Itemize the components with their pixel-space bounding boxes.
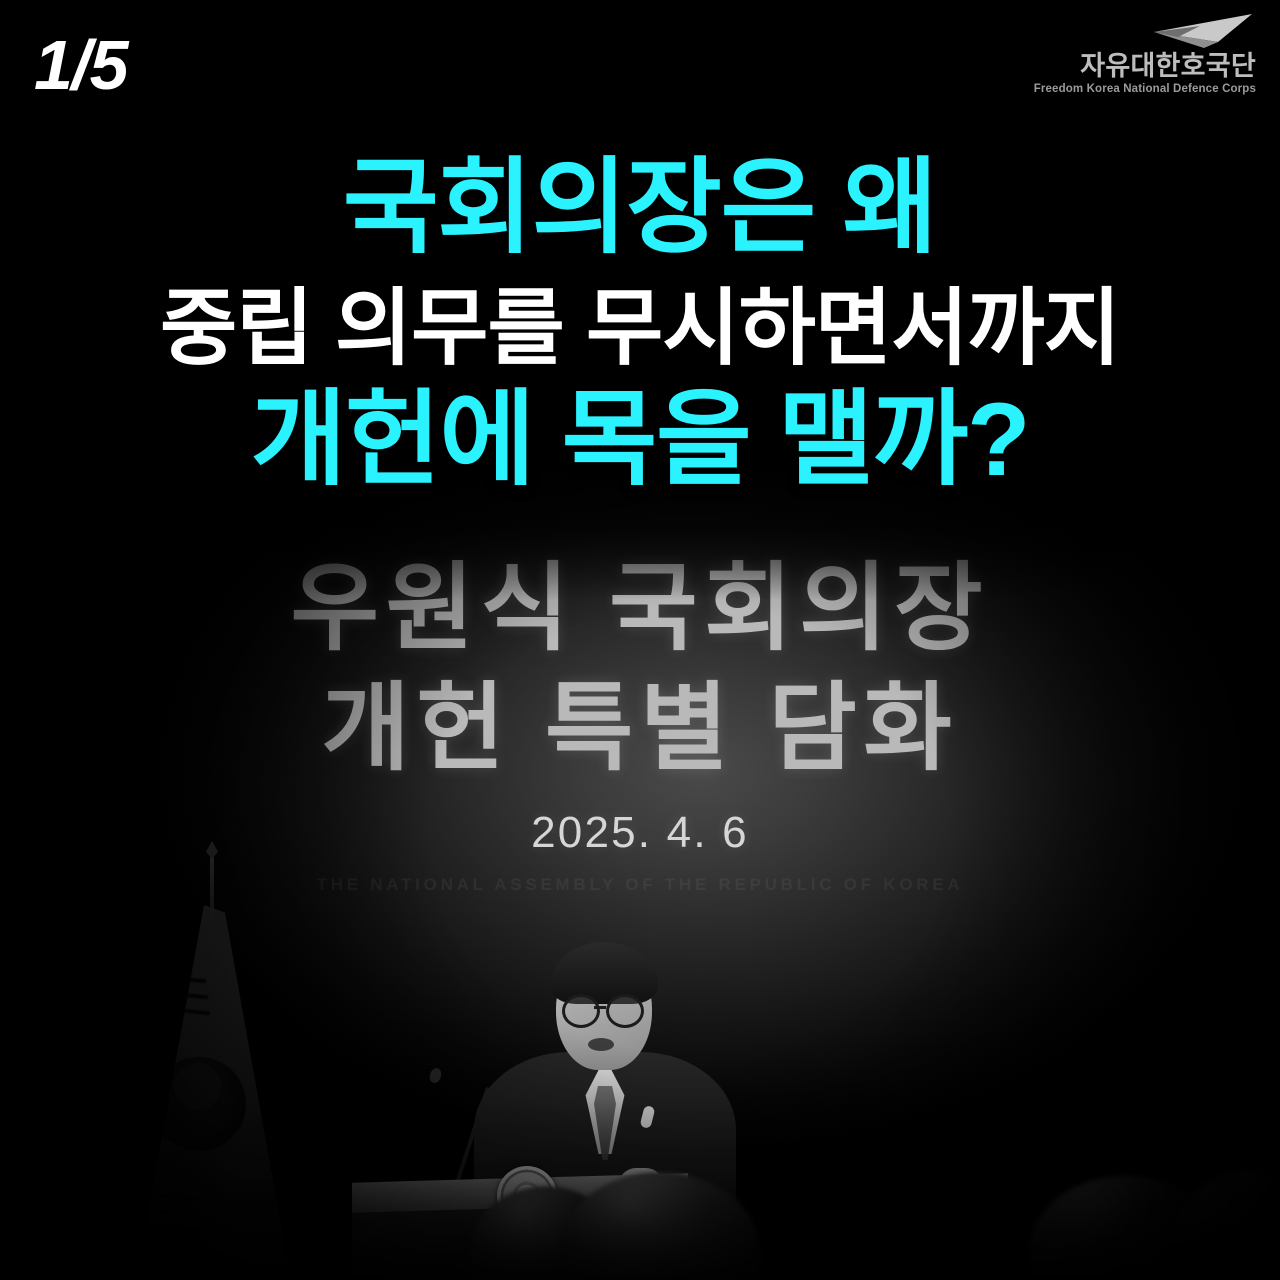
glasses-left-lens-icon — [562, 994, 600, 1028]
headline-line-3: 개헌에 목을 맬까? — [0, 388, 1280, 492]
audience-head — [1170, 1170, 1280, 1280]
speaker-hair — [550, 942, 658, 1004]
paper-plane-icon — [1034, 12, 1256, 50]
screen-date: 2025. 4. 6 — [0, 808, 1280, 858]
projection-screen-text: 우원식 국회의장 개헌 특별 담화 2025. 4. 6 THE NATIONA… — [0, 560, 1280, 897]
page-indicator: 1/5 — [34, 30, 127, 100]
glasses-bridge-icon — [594, 1006, 606, 1009]
brand-logo: 자유대한호국단 Freedom Korea National Defence C… — [1034, 12, 1256, 95]
screen-title-line2: 개헌 특별 담화 — [0, 680, 1280, 778]
glasses-right-lens-icon — [606, 994, 644, 1028]
brand-name: 자유대한호국단 — [1034, 52, 1256, 80]
headline-line-2: 중립 의무를 무시하면서까지 — [0, 286, 1280, 370]
screen-title-line1: 우원식 국회의장 — [0, 560, 1280, 658]
social-card: 우원식 국회의장 개헌 특별 담화 2025. 4. 6 THE NATIONA… — [0, 0, 1280, 1280]
screen-subtext: THE NATIONAL ASSEMBLY OF THE REPUBLIC OF… — [0, 872, 1280, 898]
brand-subtitle: Freedom Korea National Defence Corps — [1034, 83, 1256, 95]
headline-line-1: 국회의장은 왜 — [0, 156, 1280, 260]
speaker-mouth — [588, 1038, 614, 1051]
headline: 국회의장은 왜 중립 의무를 무시하면서까지 개헌에 목을 맬까? — [0, 156, 1280, 492]
